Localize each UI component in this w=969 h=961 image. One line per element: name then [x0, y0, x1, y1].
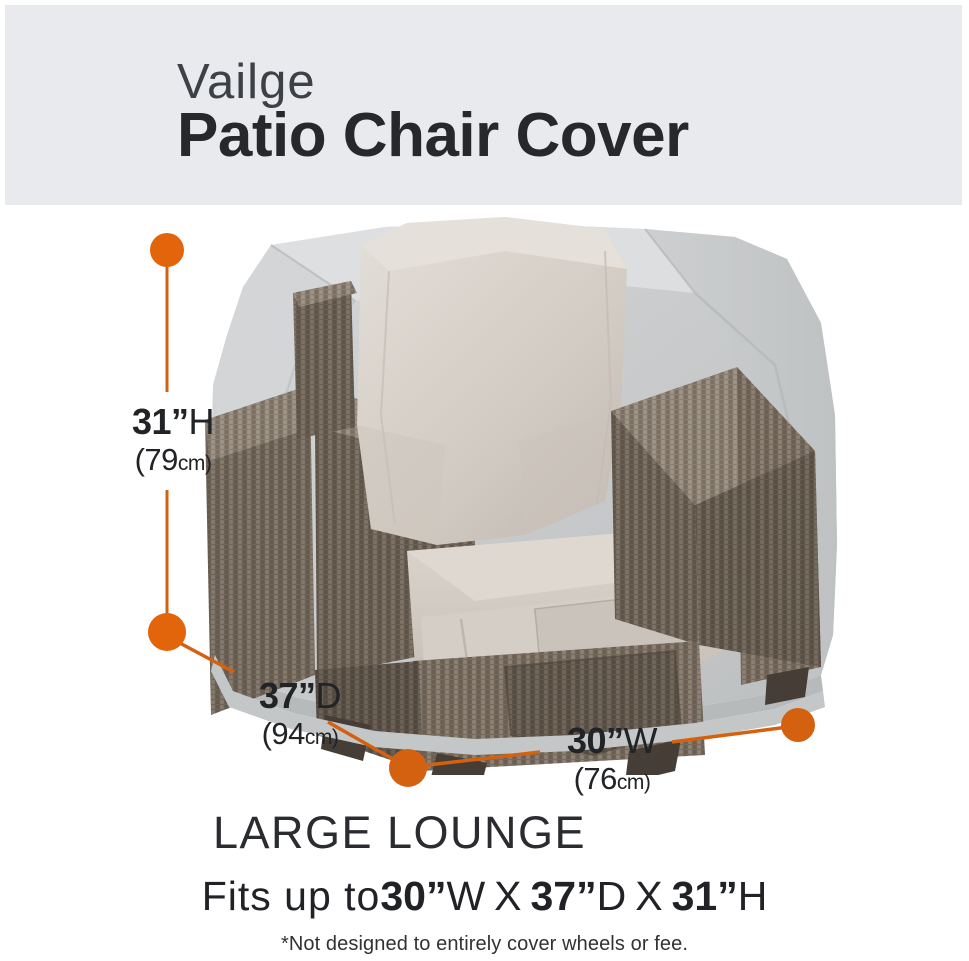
fits-depth-mark: ”	[576, 873, 597, 919]
depth-metric-row: (94cm)	[240, 718, 360, 749]
fits-width-mark: ”	[426, 873, 447, 919]
fits-separator-1: X	[485, 873, 530, 919]
depth-metric-unit: cm)	[305, 726, 339, 749]
depth-line-upper	[176, 641, 234, 672]
width-metric-unit: cm)	[617, 771, 651, 794]
fits-width-value: 30	[380, 873, 426, 919]
fits-depth-value: 37	[531, 873, 577, 919]
depth-inch-mark: ”	[298, 675, 316, 716]
height-value-row: 31”H	[123, 404, 223, 440]
marker-dot-right	[781, 708, 815, 742]
fits-height-mark: ”	[717, 873, 738, 919]
fits-width-axis: W	[446, 873, 485, 919]
fits-lead: Fits up to	[202, 873, 381, 919]
infographic-canvas: Vailge Patio Chair Cover	[0, 0, 969, 961]
dimension-label-height: 31”H (79cm)	[123, 404, 223, 475]
dimension-label-depth: 37”D (94cm)	[240, 678, 360, 749]
depth-value: 37	[259, 675, 298, 716]
fits-height-value: 31	[672, 873, 718, 919]
marker-dot-top	[150, 233, 184, 267]
height-value: 31	[132, 401, 171, 442]
width-metric-row: (76cm)	[552, 763, 672, 794]
width-value-row: 30”W	[552, 723, 672, 759]
width-value: 30	[567, 720, 606, 761]
depth-metric: (94	[262, 716, 305, 751]
dimension-label-width: 30”W (76cm)	[552, 723, 672, 794]
fits-line: Fits up to30”WX37”DX31”H	[0, 876, 969, 917]
width-metric: (76	[574, 761, 617, 796]
marker-dot-front	[389, 749, 427, 787]
size-name: LARGE LOUNGE	[0, 810, 969, 855]
height-inch-mark: ”	[171, 401, 189, 442]
fits-separator-2: X	[626, 873, 671, 919]
width-line-left	[419, 752, 540, 766]
height-metric-unit: cm)	[178, 452, 212, 475]
height-metric: (79	[135, 442, 178, 477]
fits-height-axis: H	[738, 873, 768, 919]
width-axis: W	[624, 720, 657, 761]
height-axis: H	[189, 401, 215, 442]
fits-depth-axis: D	[597, 873, 627, 919]
width-inch-mark: ”	[606, 720, 624, 761]
width-line-right	[672, 727, 788, 742]
depth-axis: D	[316, 675, 342, 716]
disclaimer-note: *Not designed to entirely cover wheels o…	[0, 934, 969, 954]
marker-dot-corner	[148, 613, 186, 651]
depth-value-row: 37”D	[240, 678, 360, 714]
height-metric-row: (79cm)	[123, 444, 223, 475]
footer-text-block: LARGE LOUNGE Fits up to30”WX37”DX31”H *N…	[0, 810, 969, 954]
